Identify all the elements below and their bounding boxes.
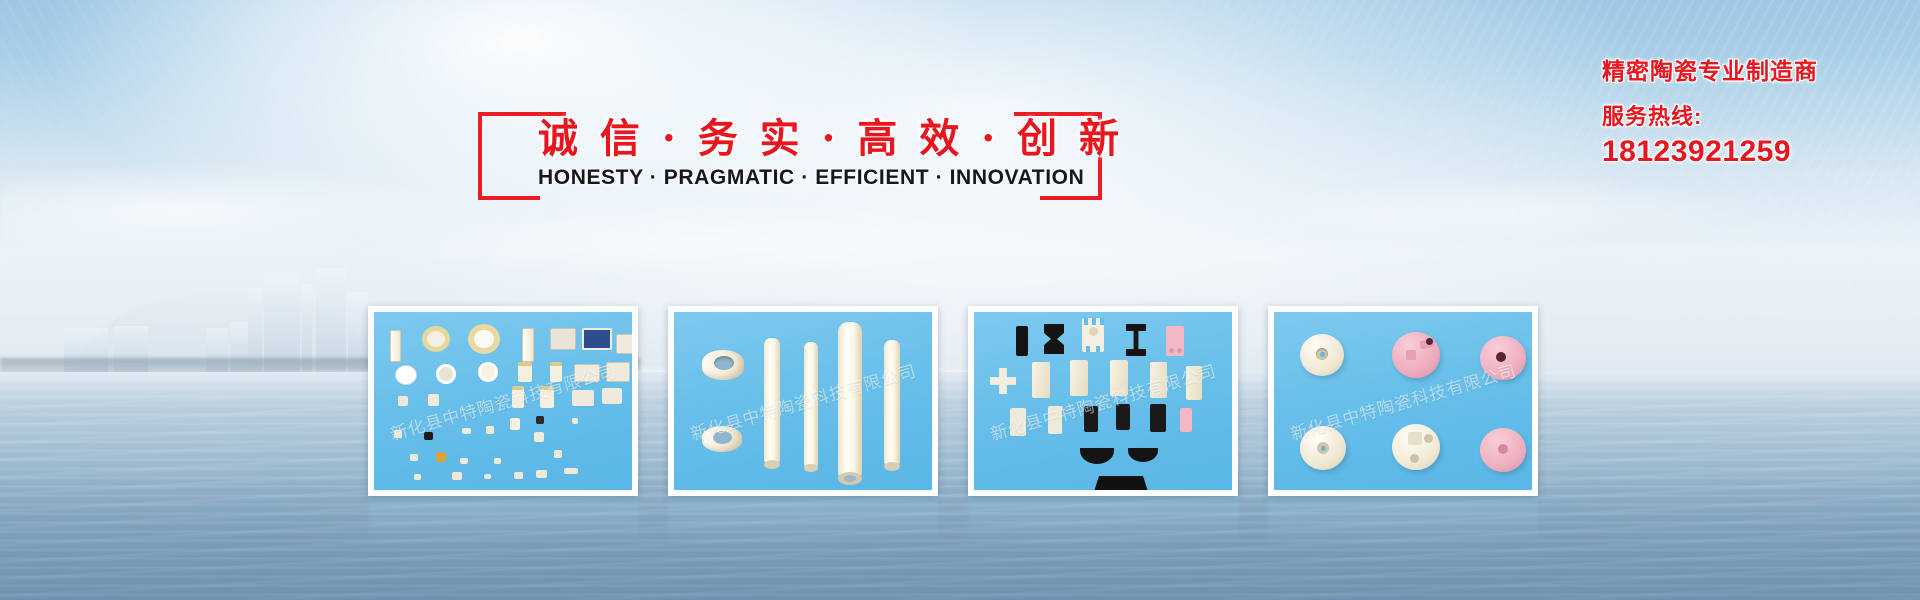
product-panels: 新化县中特陶瓷科技有限公司 新化县中特陶瓷科技有限公司 — [368, 306, 1568, 496]
banner-stage: 诚 信 · 务 实 · 高 效 · 创 新 HONESTY · PRAGMATI… — [0, 0, 1920, 600]
slogan-chinese: 诚 信 · 务 实 · 高 效 · 创 新 — [538, 106, 1042, 164]
bracket-left-bottom — [478, 196, 540, 200]
hotline-label: 服务热线: — [1602, 99, 1862, 131]
bracket-left-side — [478, 112, 482, 200]
company-tagline: 精密陶瓷专业制造商 — [1602, 52, 1862, 86]
slogan-block: 诚 信 · 务 实 · 高 效 · 创 新 HONESTY · PRAGMATI… — [478, 112, 1102, 200]
panel-ceramic-blocks-blades[interactable]: 新化县中特陶瓷科技有限公司 — [968, 306, 1238, 496]
panel-smd-ceramic-components[interactable]: 新化县中特陶瓷科技有限公司 — [368, 306, 638, 496]
slogan-english: HONESTY · PRAGMATIC · EFFICIENT · INNOVA… — [538, 166, 1042, 190]
hotline-number[interactable]: 18123921259 — [1602, 135, 1862, 169]
contact-block: 精密陶瓷专业制造商 服务热线: 18123921259 — [1602, 52, 1862, 169]
panel-ceramic-discs[interactable]: 新化县中特陶瓷科技有限公司 — [1268, 306, 1538, 496]
bracket-right-bottom — [1040, 196, 1102, 200]
panel-reflections — [368, 497, 1568, 553]
panel-ceramic-tubes-rings[interactable]: 新化县中特陶瓷科技有限公司 — [668, 306, 938, 496]
